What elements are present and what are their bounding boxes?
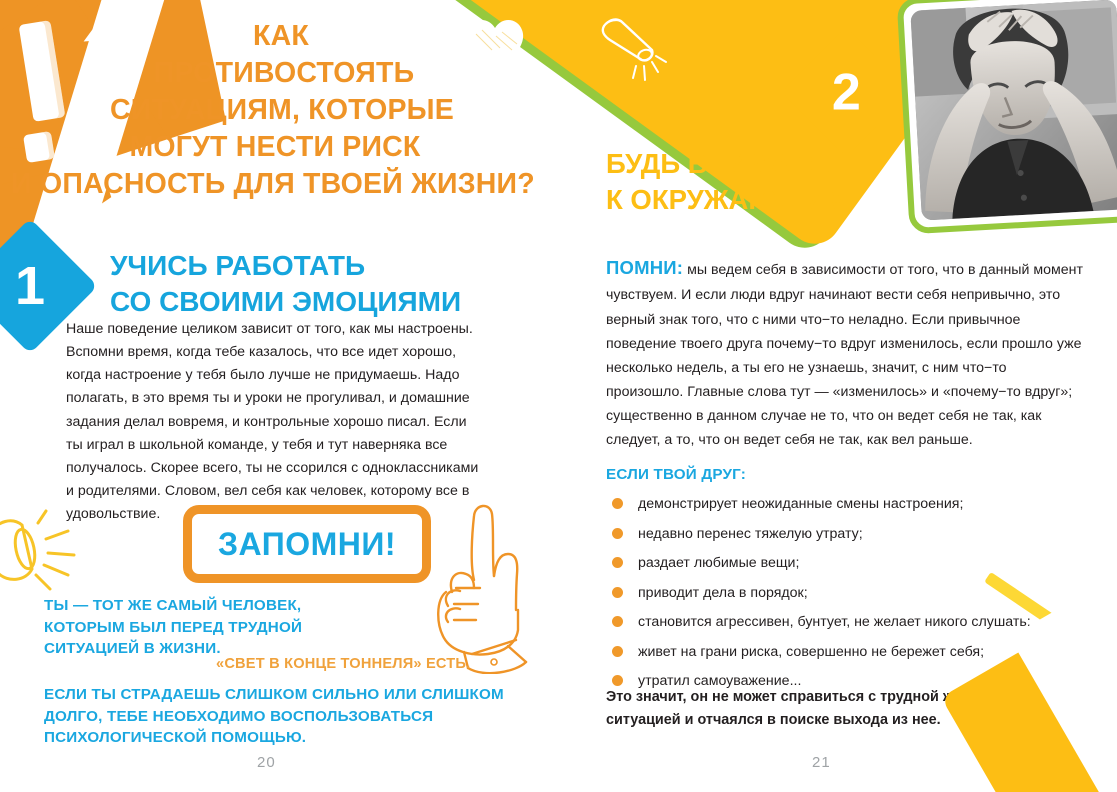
remember-badge-label: ЗАПОМНИ! (218, 526, 396, 563)
friend-list-heading: ЕСЛИ ТВОЙ ДРУГ: (606, 466, 746, 483)
section-2-title: БУДЬ ВНИМАТЕЛЕН К ОКРУЖАЮЩИМ (606, 146, 936, 218)
list-item-label: становится агрессивен, бунтует, не желае… (638, 614, 1031, 630)
bullet-dot-icon (612, 616, 623, 627)
remind-keyword: ПОМНИ: (606, 257, 683, 278)
heading-line-1: КАК (0, 18, 546, 55)
photo-frame (897, 0, 1117, 234)
section-1-body: Наше поведение целиком зависит от того, … (66, 318, 486, 526)
section-2-title-line-2: К ОКРУЖАЮЩИМ (606, 182, 936, 218)
bullet-dot-icon (612, 498, 623, 509)
list-item: становится агрессивен, бунтует, не желае… (606, 614, 1086, 631)
bullet-dot-icon (612, 646, 623, 657)
remind-paragraph: ПОМНИ: мы ведем себя в зависимости от то… (606, 252, 1084, 452)
list-item: недавно перенес тяжелую утрату; (606, 526, 1086, 543)
section-number-badge-2: 2 (781, 27, 911, 157)
closing-paragraph: Это значит, он не может справиться с тру… (606, 686, 1036, 733)
section-2-title-line-1: БУДЬ ВНИМАТЕЛЕН (606, 146, 936, 182)
page-number-right: 21 (812, 754, 831, 771)
heading-line-2: ПРОТИВОСТОЯТЬ (0, 55, 546, 92)
page-number-left: 20 (257, 754, 276, 771)
section-1-title-line-2: СО СВОИМИ ЭМОЦИЯМИ (110, 284, 540, 320)
list-item-label: приводит дела в порядок; (638, 585, 808, 601)
section-number-2: 2 (832, 66, 861, 118)
heading-line-4: МОГУТ НЕСТИ РИСК (0, 129, 546, 166)
bullet-dot-icon (612, 528, 623, 539)
bullet-dot-icon (612, 675, 623, 686)
list-item-label: раздает любимые вещи; (638, 555, 799, 571)
heading-line-3: СИТУАЦИЯМ, КОТОРЫЕ (0, 92, 546, 129)
remember-badge: ЗАПОМНИ! (183, 505, 431, 583)
list-item: приводит дела в порядок; (606, 585, 1086, 602)
callout-orange: «СВЕТ В КОНЦЕ ТОННЕЛЯ» ЕСТЬ. (216, 656, 536, 672)
megaphone-icon (592, 10, 670, 84)
list-item-label: живет на грани риска, совершенно не бере… (638, 644, 984, 660)
bullet-dot-icon (612, 587, 623, 598)
list-item-label: недавно перенес тяжелую утрату; (638, 526, 863, 542)
spread-page: КАК ПРОТИВОСТОЯТЬ СИТУАЦИЯМ, КОТОРЫЕ МОГ… (0, 0, 1117, 792)
list-item-label: демонстрирует неожиданные смены настроен… (638, 496, 963, 512)
heading-line-5: И ОПАСНОСТЬ ДЛЯ ТВОЕЙ ЖИЗНИ? (0, 166, 546, 203)
friend-list: демонстрирует неожиданные смены настроен… (606, 496, 1086, 703)
section-1-title: УЧИСЬ РАБОТАТЬ СО СВОИМИ ЭМОЦИЯМИ (110, 248, 540, 321)
list-item: демонстрирует неожиданные смены настроен… (606, 496, 1086, 513)
remind-body: мы ведем себя в зависимости от того, что… (606, 262, 1083, 448)
bullet-dot-icon (612, 557, 623, 568)
distressed-teenager-photo (910, 0, 1117, 221)
callout-blue-1: ТЫ — ТОТ ЖЕ САМЫЙ ЧЕЛОВЕК, КОТОРЫМ БЫЛ П… (44, 595, 384, 660)
section-1-title-line-1: УЧИСЬ РАБОТАТЬ (110, 248, 540, 284)
list-item: живет на грани риска, совершенно не бере… (606, 644, 1086, 661)
list-item: раздает любимые вещи; (606, 555, 1086, 572)
callout-blue-2: ЕСЛИ ТЫ СТРАДАЕШЬ СЛИШКОМ СИЛЬНО ИЛИ СЛИ… (44, 684, 514, 749)
section-number-1: 1 (15, 259, 45, 313)
main-heading: КАК ПРОТИВОСТОЯТЬ СИТУАЦИЯМ, КОТОРЫЕ МОГ… (0, 18, 546, 203)
